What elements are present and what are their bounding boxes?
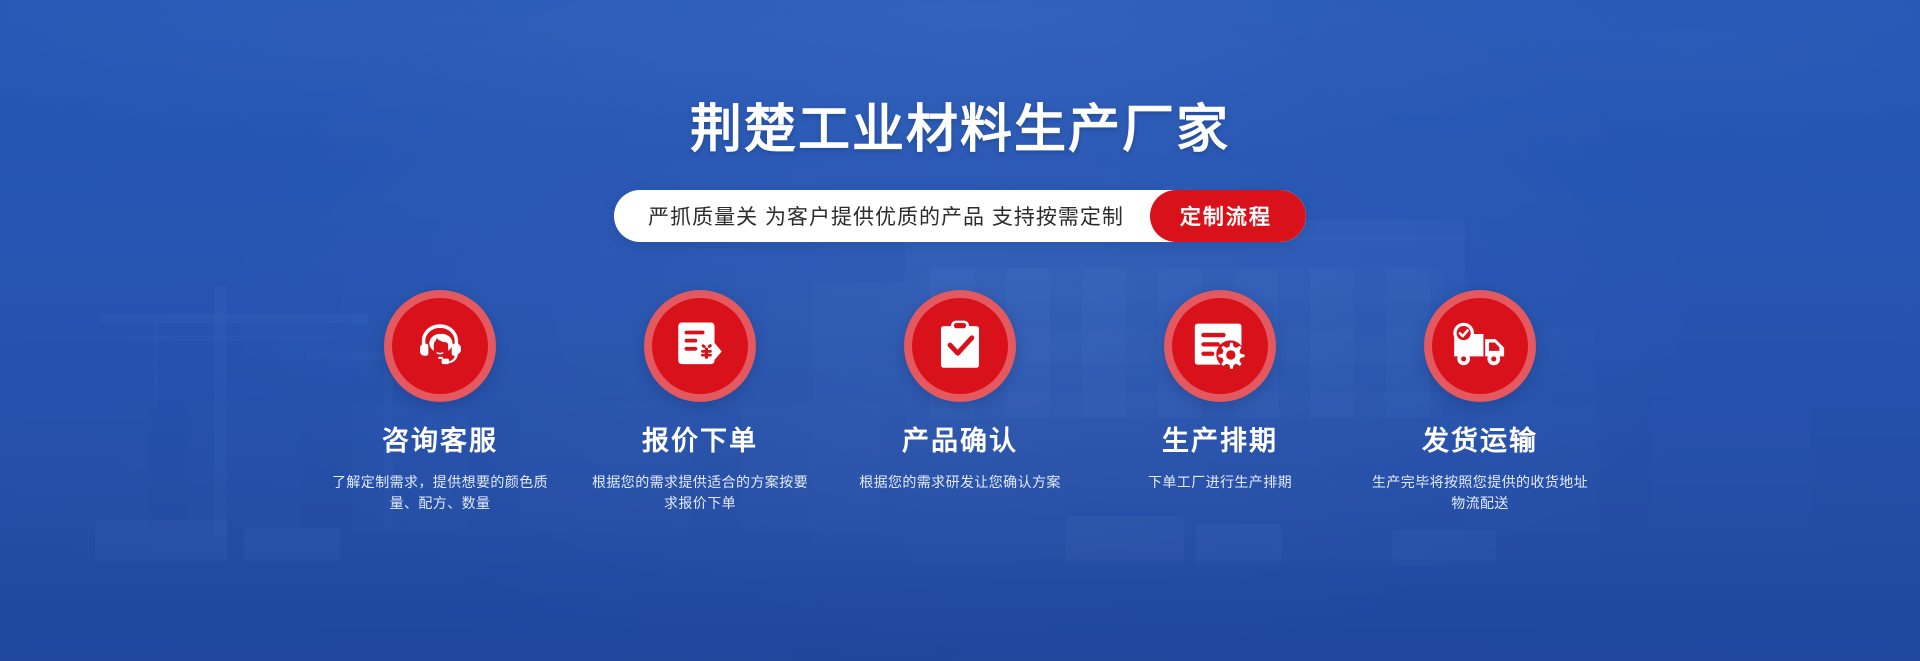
step-description: 根据您的需求研发让您确认方案: [859, 472, 1061, 493]
banner-headline: 荆楚工业材料生产厂家: [690, 0, 1230, 156]
document-gear-icon: [1192, 318, 1248, 374]
custom-process-button[interactable]: 定制流程: [1150, 190, 1306, 242]
step-description: 根据您的需求提供适合的方案按要求报价下单: [585, 472, 815, 514]
step-icon-circle: [644, 290, 756, 402]
step-icon-circle: [904, 290, 1016, 402]
subtitle-bar: 严抓质量关 为客户提供优质的产品 支持按需定制 定制流程: [614, 190, 1306, 242]
step-title: 产品确认: [902, 428, 1018, 455]
process-steps: 咨询客服 了解定制需求，提供想要的颜色质量、配方、数量: [310, 290, 1610, 514]
step-item-scheduling[interactable]: 生产排期 下单工厂进行生产排期: [1090, 290, 1350, 493]
step-description: 了解定制需求，提供想要的颜色质量、配方、数量: [325, 472, 555, 514]
invoice-yen-icon: [674, 317, 726, 375]
step-title: 生产排期: [1162, 428, 1278, 455]
step-title: 发货运输: [1422, 428, 1538, 455]
step-description: 下单工厂进行生产排期: [1148, 472, 1292, 493]
step-title: 咨询客服: [382, 428, 498, 455]
step-description: 生产完毕将按照您提供的收货地址物流配送: [1365, 472, 1595, 514]
step-item-shipping[interactable]: 发货运输 生产完毕将按照您提供的收货地址物流配送: [1350, 290, 1610, 514]
clipboard-check-icon: [934, 317, 986, 375]
step-icon-circle: [1424, 290, 1536, 402]
promo-banner: 荆楚工业材料生产厂家 严抓质量关 为客户提供优质的产品 支持按需定制 定制流程: [0, 0, 1920, 661]
step-icon-circle: [384, 290, 496, 402]
step-title: 报价下单: [642, 428, 758, 455]
delivery-truck-check-icon: [1449, 320, 1511, 372]
step-item-quotation[interactable]: 报价下单 根据您的需求提供适合的方案按要求报价下单: [570, 290, 830, 514]
step-item-consult[interactable]: 咨询客服 了解定制需求，提供想要的颜色质量、配方、数量: [310, 290, 570, 514]
step-item-confirmation[interactable]: 产品确认 根据您的需求研发让您确认方案: [830, 290, 1090, 493]
banner-content: 荆楚工业材料生产厂家 严抓质量关 为客户提供优质的产品 支持按需定制 定制流程: [0, 0, 1920, 661]
step-icon-circle: [1164, 290, 1276, 402]
subtitle-text: 严抓质量关 为客户提供优质的产品 支持按需定制: [614, 190, 1150, 242]
headset-support-icon: [411, 317, 469, 375]
